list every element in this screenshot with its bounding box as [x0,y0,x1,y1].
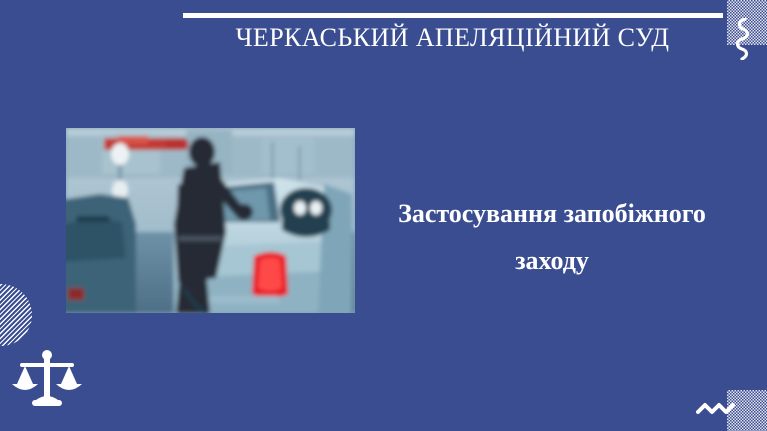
hatched-circle-pattern-icon [0,284,32,346]
slide-photo [66,128,355,313]
wave-line-icon [696,400,738,420]
photo-illustration [66,128,355,313]
slide-heading: Застосування запобіжного заходу [352,190,752,284]
zigzag-icon [733,18,755,60]
header-rule [183,13,723,18]
page-title: ЧЕРКАСЬКИЙ АПЕЛЯЦІЙНИЙ СУД [180,22,725,54]
slide-heading-line-1: Застосування запобіжного [352,190,752,237]
scales-of-justice-icon [12,348,82,410]
presentation-slide: ЧЕРКАСЬКИЙ АПЕЛЯЦІЙНИЙ СУД [0,0,767,431]
slide-heading-line-2: заходу [352,237,752,284]
